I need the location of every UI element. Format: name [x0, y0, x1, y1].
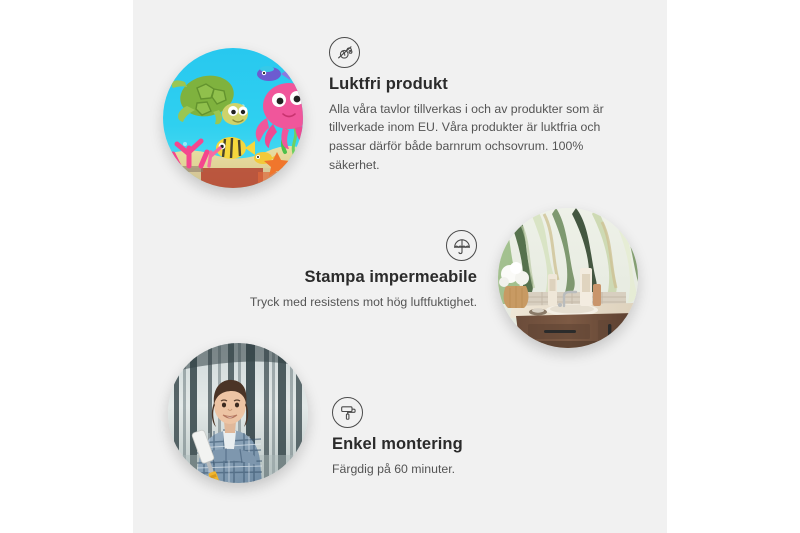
feature-3-body: Färgdig på 60 minuter.: [332, 460, 582, 479]
underwater-cartoon-mural-photo: [163, 48, 303, 188]
umbrella-icon: [446, 230, 477, 261]
feature-3-copy: Enkel montering Färgdig på 60 minuter.: [332, 397, 582, 478]
promo-infographic: Luktfri produkt Alla våra tavlor tillver…: [0, 0, 800, 533]
feature-1-body: Alla våra tavlor tillverkas i och av pro…: [329, 100, 621, 175]
feature-2-body: Tryck med resistens mot hög luftfuktighe…: [215, 293, 477, 312]
feature-2-title: Stampa impermeabile: [215, 268, 477, 288]
feature-1-title: Luktfri produkt: [329, 75, 621, 95]
feature-2-copy: Stampa impermeabile Tryck med resistens …: [215, 230, 477, 311]
no-odour-icon: [329, 37, 360, 68]
feature-3-title: Enkel montering: [332, 435, 582, 455]
bathroom-tropical-wallpaper-photo: [498, 208, 638, 348]
paint-roller-icon: [332, 397, 363, 428]
woman-with-paint-roller-forest-mural-photo: [168, 343, 308, 483]
feature-1-copy: Luktfri produkt Alla våra tavlor tillver…: [329, 37, 621, 175]
